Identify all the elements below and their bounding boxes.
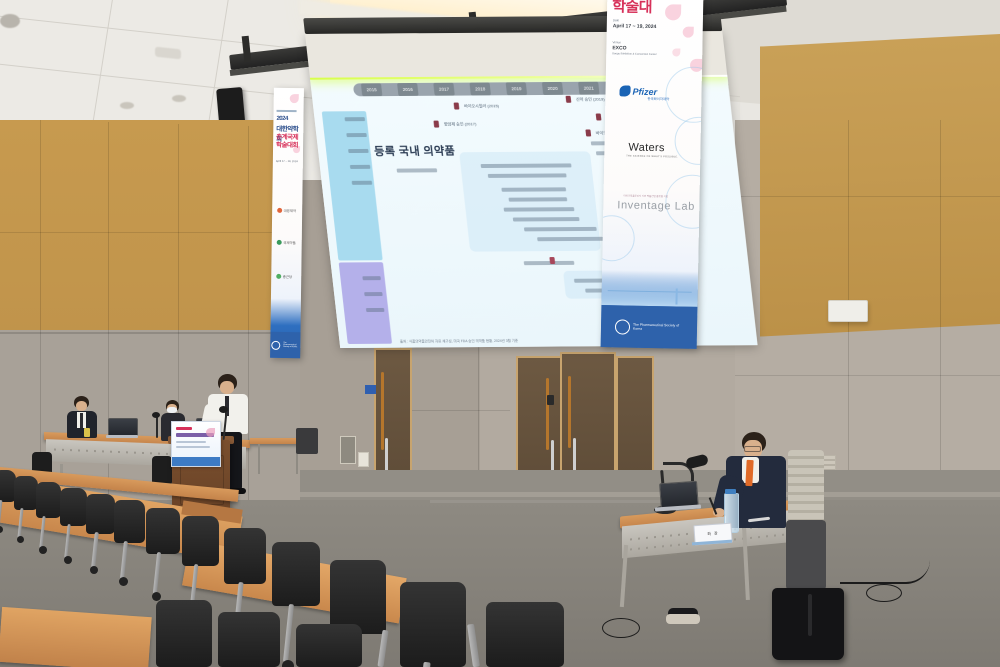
banner-left-sponsor: 국제약품 [277, 240, 296, 245]
stage-equipment-case [296, 428, 318, 454]
sponsor-name: Pfizer [632, 86, 657, 96]
face [76, 401, 87, 411]
slide-node-label: 항암제 승인 (2017) [444, 121, 477, 127]
slide-text-line [513, 217, 580, 221]
banner-venue: EXCO [612, 45, 626, 51]
banner-tower-icon [675, 288, 677, 304]
door-handle-icon[interactable] [568, 376, 571, 448]
wall-recess-icon [340, 436, 356, 464]
chair-backrest [146, 508, 180, 554]
staff-mic-stand [156, 416, 158, 438]
banner-left-year: 2024 [276, 116, 287, 122]
wall-seam [735, 196, 1000, 197]
cable-run [840, 560, 930, 584]
chair-backrest [114, 500, 145, 543]
conference-hall-photo: 2015 2016 2017 2018 2019 2020 2021 2022 … [0, 0, 1000, 667]
psk-seal-icon [271, 340, 280, 349]
necktie [80, 413, 83, 428]
banner-bridge-icon [608, 290, 692, 303]
sponsor-name: 대웅제약 [284, 208, 297, 213]
banner-footer: The Pharmaceutical Society of Korea [601, 305, 698, 349]
banner-venue-sub: Daegu Exhibition & Convention Center [612, 52, 656, 56]
caster-icon [64, 556, 72, 564]
slide-text-line [481, 163, 572, 168]
sign-accent [176, 427, 192, 430]
banner-venue-label: Venue [612, 40, 621, 44]
blossom-decor-icon [683, 27, 694, 38]
banner-left-sponsor: 종근당 [276, 274, 292, 279]
caster-icon [17, 536, 24, 543]
wall-sign-icon [365, 385, 376, 394]
sponsor-waters-tagline: THE SCIENCE OF WHAT'S POSSIBLE. [626, 155, 678, 159]
slide-timeline-node [433, 121, 439, 128]
cable-coil-icon [866, 584, 902, 602]
microphone-icon [219, 406, 228, 413]
slide-legend-row [364, 292, 383, 296]
chair-backrest [400, 582, 466, 667]
banner-date-label: Date [613, 18, 619, 22]
floor-stage-edge [300, 492, 1000, 497]
sign-text-line [176, 441, 206, 443]
slide-timeline-node [454, 103, 460, 110]
cable-coil-icon [602, 618, 640, 638]
slide-text-line [397, 168, 438, 172]
slide-legend-row [352, 181, 373, 185]
slide-node-label: 바이오시밀러 (2015) [464, 103, 500, 109]
chair-backrest [330, 560, 386, 634]
chair-backrest [224, 528, 266, 584]
slide-timeline-node [585, 129, 591, 136]
slide-text-line [509, 197, 568, 201]
ceiling-spot-icon [172, 95, 186, 102]
banner-right: 학술대 Date April 17 ~ 19, 2024 Venue EXCO … [601, 0, 704, 349]
chair-backrest [486, 602, 564, 667]
sign-text-line [176, 446, 210, 448]
wall-sensor-icon [828, 300, 868, 322]
sponsor-inventage-logo: Inventage Lab [617, 199, 695, 212]
dna-decor-icon [601, 215, 636, 262]
stage-side-table-leg [258, 444, 260, 474]
door-handle-icon[interactable] [381, 372, 384, 450]
banner-left-eyebrow [277, 110, 297, 112]
sponsor-waters-logo: Waters [628, 142, 664, 155]
slide-footnote: 출처 : 식품의약품안전처 자료 재구성, 미국 FDA 승인 의약품 현황, … [400, 338, 519, 344]
psk-seal-icon [615, 319, 630, 334]
wall-seam [0, 232, 300, 233]
door-lock-icon [547, 395, 554, 405]
dna-decor-icon [665, 66, 703, 123]
slide-text-line [501, 187, 566, 191]
blossom-decor-icon [672, 48, 680, 56]
slide-legend-row [345, 117, 366, 121]
sponsor-mark-icon [277, 240, 282, 245]
ceiling-spot-icon [120, 102, 134, 109]
banner-left: 2024 대한약학회 춘계국제 학술대회 April 17 ~ 19, 2024… [270, 88, 304, 358]
slide-timeline-year: 2020 [542, 82, 564, 95]
door-handle-icon[interactable] [546, 378, 549, 450]
caster-icon [282, 660, 294, 667]
sponsor-mark-icon [277, 208, 282, 213]
sponsor-name: 종근당 [283, 274, 292, 279]
slide-timeline-year: 2015 [361, 83, 383, 96]
chair-backrest [86, 494, 115, 534]
microphone-icon [152, 412, 160, 418]
office-chair-frame [786, 520, 826, 590]
ceiling-vent-icon [0, 14, 20, 28]
caster-icon [90, 566, 98, 574]
chair-backrest [218, 612, 280, 667]
slide-text-line [537, 237, 604, 241]
slide-legend-row [362, 276, 381, 280]
banner-left-sponsor: 대웅제약 [277, 208, 296, 213]
slide-timeline-year: 2021 [578, 82, 600, 95]
pfizer-mark-icon [619, 85, 630, 96]
banner-left-footer: The Pharmaceutical Society of Korea [270, 332, 300, 358]
slide-legend-row [348, 149, 369, 153]
blossom-decor-icon [665, 4, 681, 20]
sponsor-name: 국제약품 [283, 240, 296, 245]
slide-text-line [524, 227, 597, 231]
banner-footer-org: The Pharmaceutical Society of Korea [633, 323, 683, 332]
slide-legend-block-2 [339, 262, 392, 344]
wall-seam [0, 332, 300, 334]
wall-seam [735, 375, 1000, 376]
presenter-face [220, 381, 234, 394]
banner-left-date: April 17 ~ 19, 2024 [276, 160, 298, 163]
person-staff-1 [62, 396, 102, 444]
chair-backrest [296, 624, 362, 667]
slide-bullet-marker [549, 257, 555, 264]
slide-legend-row [346, 133, 367, 137]
banner-date: April 17 ~ 19, 2024 [613, 23, 657, 30]
slide-timeline-node [566, 96, 572, 103]
chair-backrest [60, 488, 87, 526]
slide-text-line [488, 173, 567, 178]
staff-laptop-base [106, 435, 138, 438]
banner-footer-org: The Pharmaceutical Society of Korea [283, 342, 299, 349]
podium-sign [171, 421, 221, 467]
slide-legend-row [366, 308, 385, 312]
slide-legend-row [350, 165, 371, 169]
wall-plate-icon [358, 452, 369, 467]
audience-table-row3 [0, 607, 152, 667]
slide-text-line [504, 207, 575, 211]
staff-cup [84, 428, 90, 437]
slide-timeline-year: 2016 [397, 83, 419, 96]
chair-backrest [14, 476, 38, 510]
blossom-decor-icon [290, 94, 299, 103]
wall-seam [400, 410, 510, 411]
sponsor-inventage-sub: 마이크로플루이딕 기반 약물전달 플랫폼 기업 [624, 193, 669, 198]
dna-decor-icon [674, 116, 703, 165]
bottle-cap-icon [725, 489, 736, 494]
sign-blossom-icon [206, 428, 215, 437]
chair-necktie [745, 460, 753, 486]
banner-title: 학술대 [612, 0, 652, 17]
banner-left-event: 학술대회 [276, 139, 298, 149]
slide-node-label: 신약 승인 (2019) [576, 97, 605, 103]
slide-timeline-year: 2017 [433, 83, 455, 96]
slide-timeline-year: 2018 [469, 82, 491, 95]
sponsor-pfizer-sub: 한국화이자제약 [647, 96, 669, 101]
chair-backrest [182, 516, 219, 566]
caster-icon [39, 546, 47, 554]
shoe [666, 614, 700, 624]
sponsor-mark-icon [276, 274, 281, 279]
slide-timeline-node [596, 113, 602, 120]
wall-panel-upper-right [760, 33, 1000, 336]
chair-glasses-icon [744, 446, 761, 452]
chair-backrest [272, 542, 320, 606]
slide-timeline-year: 2019 [506, 82, 528, 95]
caster-icon [119, 577, 128, 586]
chair-backrest [36, 482, 61, 518]
chair-backrest [156, 600, 212, 667]
sign-footer-band [172, 457, 220, 466]
backpack-strap-icon [808, 594, 812, 636]
